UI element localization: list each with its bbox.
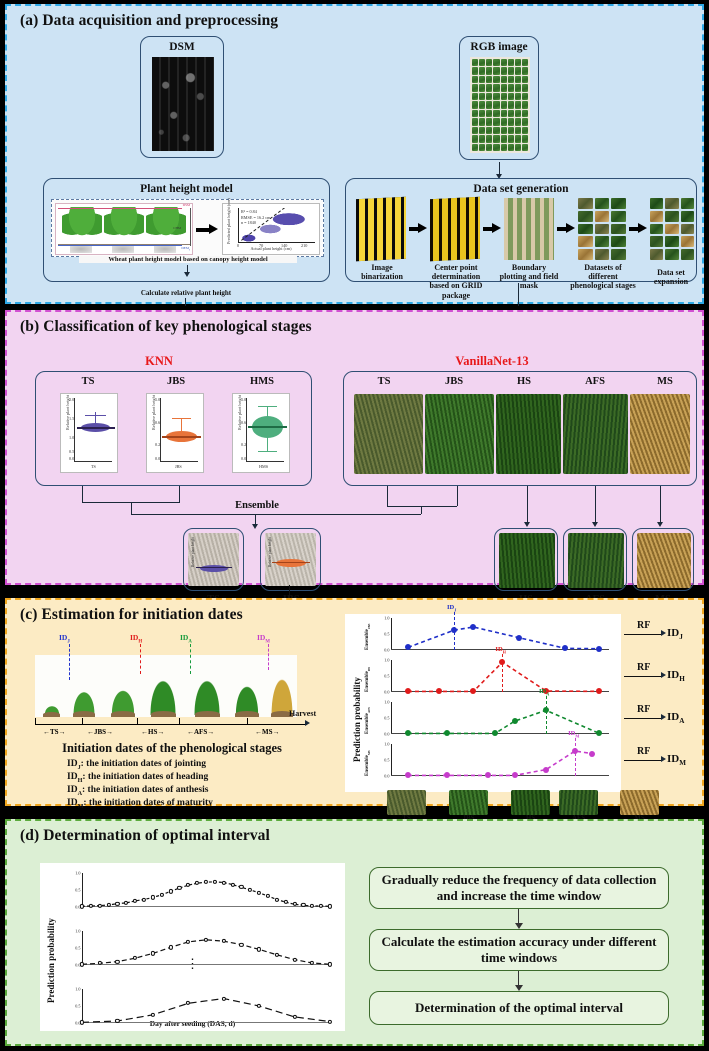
rf-label-1: RF [637,662,650,673]
panel-d-datapoint-1-0 [80,962,84,966]
subplot-ensemble-ms: EnsembleMS0.00.51.0IDM [391,744,609,776]
timeline-stage-afs: ←AFS→ [187,728,243,736]
vnet-image-hs [496,394,561,474]
ytick-1-0: 0.0 [384,690,389,695]
panel-d-subplot-2: 1.00.50.0 [82,989,330,1023]
arrow-canopy-to-scatter-head [209,224,218,234]
idmark-label-0: IDJ [447,604,456,612]
datapoint-3-3 [512,772,518,778]
flow-step-2: Calculate the estimation accuracy under … [369,929,669,971]
datapoint-2-0 [405,730,411,736]
rf-line-3 [624,760,662,761]
idmark-line-1 [502,654,503,692]
ida-marker-label: IDA [180,633,192,645]
panel-d-ytick-0-1: 0.5 [75,888,80,893]
idm-marker-label: IDM [257,633,270,645]
card-knn-violins: TS JBS HMS Relative plant height 2.0 1.5… [35,371,312,486]
timeline-harvest-label: Harvest [289,709,337,718]
ytick-1-2: 1.0 [384,658,389,663]
legend-item-idj: IDJ: the initiation dates of jointing [67,759,206,771]
step-caption-2: Center point determination based on GRID… [422,263,490,300]
card-vanillanet-inputs: TS JBS HS AFS MS [343,371,697,486]
panel-d-ytick-2-1: 0.5 [75,1004,80,1009]
ytick-0-0: 0.0 [384,648,389,653]
card-cnn-output-ms [632,528,694,591]
idh-marker-line [140,644,141,674]
vnet-image-ms [630,394,690,474]
panel-d-ytick-0-0: 1.0 [75,871,80,876]
panel-d-subplot-0: 1.00.50.0 [82,873,330,907]
step-caption-4: Datasets of different phenological stage… [570,263,636,291]
card-rgb-title: RGB image [460,41,538,53]
label-chm: CHM [173,226,181,230]
yaxis-name-1: EnsembleHS [365,667,371,692]
panel-d-datapoint-0-28 [328,904,332,908]
card-plant-height-model: Plant height model [43,178,330,282]
vnet-out-ts [387,486,388,506]
subplot-ensemble-hs: EnsembleHS0.00.51.0IDH [391,660,609,692]
vnet-afs-drop [595,486,596,524]
timeline-axis [35,724,307,725]
panel-a-title: (a) Data acquisition and preprocessing [20,12,278,30]
rf-arrow-3 [661,756,666,762]
ytick-3-1: 0.5 [384,758,389,763]
datapoint-3-1 [444,772,450,778]
card-plant-height-title: Plant height model [44,183,329,195]
datapoint-3-4 [543,767,549,773]
knn-stage-label-0: TS [58,376,118,387]
thumbnail-afs [559,790,598,815]
arrow-step1-head [418,223,427,233]
prediction-probability-chart: Prediction probability EnsembleJBS0.00.5… [345,614,621,792]
vnet-afs-head [592,522,598,527]
card-rgb-image: RGB image [459,36,539,160]
prediction-probability-ylabel: Prediction probability [352,677,362,762]
panel-c-legend-title: Initiation dates of the phenological sta… [27,741,317,756]
timeline-stage-jbs: ←JBS→ [87,728,131,736]
idmark-label-3: IDM [568,730,579,738]
panel-d-title: (d) Determination of optimal interval [20,827,270,845]
panel-d-datapoint-0-1 [89,904,93,908]
arrow-step3-stem [557,227,566,231]
idmark-line-3 [575,738,576,776]
ytick-1-1: 0.5 [384,674,389,679]
cnn-output-image-hs [499,533,555,588]
scatter-stats: R² = 0.84RMSE = 16.2 cmn = 1840 [241,209,270,226]
ytick-3-2: 1.0 [384,742,389,747]
card-ensemble-output-jbs: Relative plant height [260,528,321,591]
plant-height-scatter-plot: R² = 0.84RMSE = 16.2 cmn = 1840 Actual p… [222,203,320,255]
panel-d-ylabel: Prediction probability [46,918,56,1003]
datapoint-2-5 [596,730,602,736]
vnet-image-ts [354,394,423,474]
label-dsm-line: DSM [183,203,190,207]
ensemble-ts-background [188,533,239,586]
plant-height-caption: Wheat plant height model based on canopy… [79,256,297,263]
rf-arrow-1 [661,672,666,678]
thumbnail-ts [387,790,426,815]
figure-canvas: (a) Data acquisition and preprocessing D… [0,0,709,1051]
rf-label-3: RF [637,746,650,757]
timeline-arrowhead [305,720,310,726]
rf-output-idm: IDM [667,753,686,767]
step-center-point-image [430,197,480,262]
datapoint-2-2 [492,730,498,736]
datapoint-2-1 [444,730,450,736]
panel-d-ytick-2-0: 1.0 [75,987,80,992]
arrow-step2-head [492,223,501,233]
step-caption-1: Image binarization [351,263,413,281]
legend-item-idm: IDM: the initiation dates of maturity [67,798,213,810]
violin-plot-jbs: Relative plant height 1.0 0.6 0.2 0.0 JB… [146,393,204,473]
idmark-label-2: IDA [539,688,549,696]
step-image-binarization-image [356,197,406,262]
panel-d-datapoint-0-2 [98,904,102,908]
datapoint-0-2 [470,624,476,630]
knn-out-ts [82,486,83,502]
card-dsm: DSM [140,36,224,158]
panel-b-title: (b) Classification of key phenological s… [20,318,312,336]
plant-height-diagram-region: DSM CHM DEM0 [51,199,324,257]
card-dataset-generation-title: Data set generation [346,183,696,195]
idmark-label-1: IDH [495,646,506,654]
datapoint-1-2 [470,688,476,694]
vnet-out-jbs [457,486,458,506]
arrow-step4-head [638,223,647,233]
ytick-3-0: 0.0 [384,774,389,779]
calculate-relative-plant-height-caption: Calculate relative plant height [81,289,291,297]
datapoint-0-3 [516,635,522,641]
cnn-output-image-ms [637,533,691,588]
plant-height-out-head [184,272,190,277]
flow-step-1: Gradually reduce the frequency of data c… [369,867,669,909]
vnet-stage-label-3: AFS [565,376,625,387]
panel-a-out-right [518,283,519,306]
flow-step-3: Determination of the optimal interval [369,991,669,1025]
arrow-step4-stem [629,227,638,231]
vnet-stage-label-0: TS [354,376,414,387]
rf-output-idh: IDH [667,669,685,683]
panel-d-ytick-1-0: 1.0 [75,929,80,934]
rf-line-2 [624,718,662,719]
datapoint-1-5 [596,688,602,694]
yaxis-name-3: EnsembleMS [365,750,371,776]
step-boundary-plotting-image [504,198,554,260]
ensemble-bus [131,514,421,515]
knn-bus-drop [131,502,132,514]
vnet-ms-drop [660,486,661,524]
label-dem: DEM0 [181,246,190,252]
panel-d-datapoint-0-27 [319,904,323,908]
ytick-2-1: 0.5 [384,716,389,721]
label-vanillanet: VanillaNet-13 [417,354,567,369]
ytick-0-2: 1.0 [384,616,389,621]
ensemble-jbs-ylabel: Relative plant height [268,537,272,567]
knn-stage-label-1: JBS [146,376,206,387]
rf-output-ida: IDA [667,711,684,725]
arrow-step2-stem [483,227,492,231]
panel-a-data-acquisition: (a) Data acquisition and preprocessing D… [5,4,704,304]
panel-b-classification: (b) Classification of key phenological s… [5,310,704,585]
vnet-hs-head [524,522,530,527]
rf-label-2: RF [637,704,650,715]
ytick-2-2: 1.0 [384,700,389,705]
rf-line-1 [624,676,662,677]
panel-c-initiation-dates: (c) Estimation for initiation dates [5,598,704,806]
idh-marker-label: IDH [130,633,142,645]
card-ensemble-output-ts: Relative plant height [183,528,244,591]
rf-line-0 [624,634,662,635]
timeline-stage-hs: ←HS→ [141,728,179,736]
optimal-interval-chart: Prediction probability Day after seeding… [40,863,345,1031]
datapoint-2-3 [512,718,518,724]
panel-d-datapoint-1-14 [328,962,332,966]
arrow-step3-head [566,223,575,233]
knn-stage-label-2: HMS [232,376,292,387]
idj-marker-line [69,644,70,680]
vnet-image-afs [563,394,628,474]
ensemble-label: Ensemble [207,500,307,511]
thumbnail-ms [620,790,659,815]
datapoint-3-0 [405,772,411,778]
rf-label-0: RF [637,620,650,631]
yaxis-name-2: EnsembleAFS [365,707,371,734]
canopy-height-illustration: DSM CHM DEM0 [55,203,193,255]
rf-output-idj: IDJ [667,627,683,641]
panel-d-datapoint-0-26 [310,904,314,908]
datapoint-1-1 [436,688,442,694]
vnet-bus [387,506,457,507]
ytick-0-1: 0.5 [384,632,389,637]
card-cnn-output-afs [563,528,627,591]
panel-d-subplot-1: 1.00.50.0 [82,931,330,965]
arrow-step1-stem [409,227,418,231]
timeline-stage-ts: ←TS→ [43,728,77,736]
card-dsm-title: DSM [141,41,223,53]
vnet-stage-label-1: JBS [424,376,484,387]
card-cnn-output-hs [494,528,558,591]
thumbnail-hs [511,790,550,815]
vnet-stage-label-2: HS [494,376,554,387]
vnet-stage-label-4: MS [635,376,695,387]
label-knn: KNN [119,354,199,369]
connector-b-to-c [289,585,290,598]
datapoint-1-0 [405,688,411,694]
timeline-stage-ms: ←MS→ [255,728,297,736]
panel-d-datapoint-0-0 [80,904,84,908]
knn-out-jbs [179,486,180,502]
vnet-bus-drop [421,506,422,514]
panel-a-out-left [185,298,186,306]
thumbnail-jbs [449,790,488,815]
yaxis-name-0: EnsembleJBS [365,624,371,650]
ensemble-drop-head [252,524,258,529]
idmark-line-2 [546,696,547,734]
scatter-ylabel: Predicted plant height (cm) [226,198,231,244]
ytick-2-0: 0.0 [384,732,389,737]
datapoint-3-6 [589,751,595,757]
panel-d-ytick-1-1: 0.5 [75,946,80,951]
rf-arrow-0 [661,630,666,636]
wheat-plant-2 [104,207,144,245]
violin-plot-hms: Relative plant height 1.0 0.6 0.2 0.0 HM… [232,393,290,473]
rf-arrow-2 [661,714,666,720]
cnn-output-image-afs [568,533,624,588]
card-dataset-generation: Data set generation [345,178,697,282]
legend-item-ida: IDA: the initiation dates of anthesis [67,785,208,797]
ida-marker-line [190,644,191,674]
panel-c-title: (c) Estimation for initiation dates [20,606,243,624]
datapoint-0-0 [405,644,411,650]
idm-marker-line [268,644,269,670]
ensemble-ts-ylabel: Relative plant height [191,537,195,567]
datapoint-3-2 [485,772,491,778]
growth-stage-illustration [35,655,297,717]
step-caption-3: Boundary plotting and field mask [498,263,560,291]
vnet-hs-drop [527,486,528,524]
step-stage-datasets-image [578,198,626,260]
vnet-ms-head [657,522,663,527]
wheat-plant-1 [62,207,102,245]
step-dataset-expansion-image [650,198,694,260]
arrow-canopy-to-scatter-stem [196,228,209,232]
vnet-image-jbs [425,394,494,474]
panel-d-optimal-interval: (d) Determination of optimal interval Pr… [5,819,704,1046]
violin-plot-ts: Relative plant height 2.0 1.5 1.0 0.5 0.… [60,393,118,473]
legend-item-idh: IDH: the initiation dates of heading [67,772,208,784]
idmark-line-0 [454,612,455,650]
rgb-orthomosaic-image [470,57,530,153]
datapoint-0-4 [562,645,568,651]
idj-marker-label: IDJ [59,633,70,645]
datapoint-0-5 [596,646,602,652]
dsm-raster-image [152,57,214,151]
step-caption-5: Data set expansion [642,268,700,286]
